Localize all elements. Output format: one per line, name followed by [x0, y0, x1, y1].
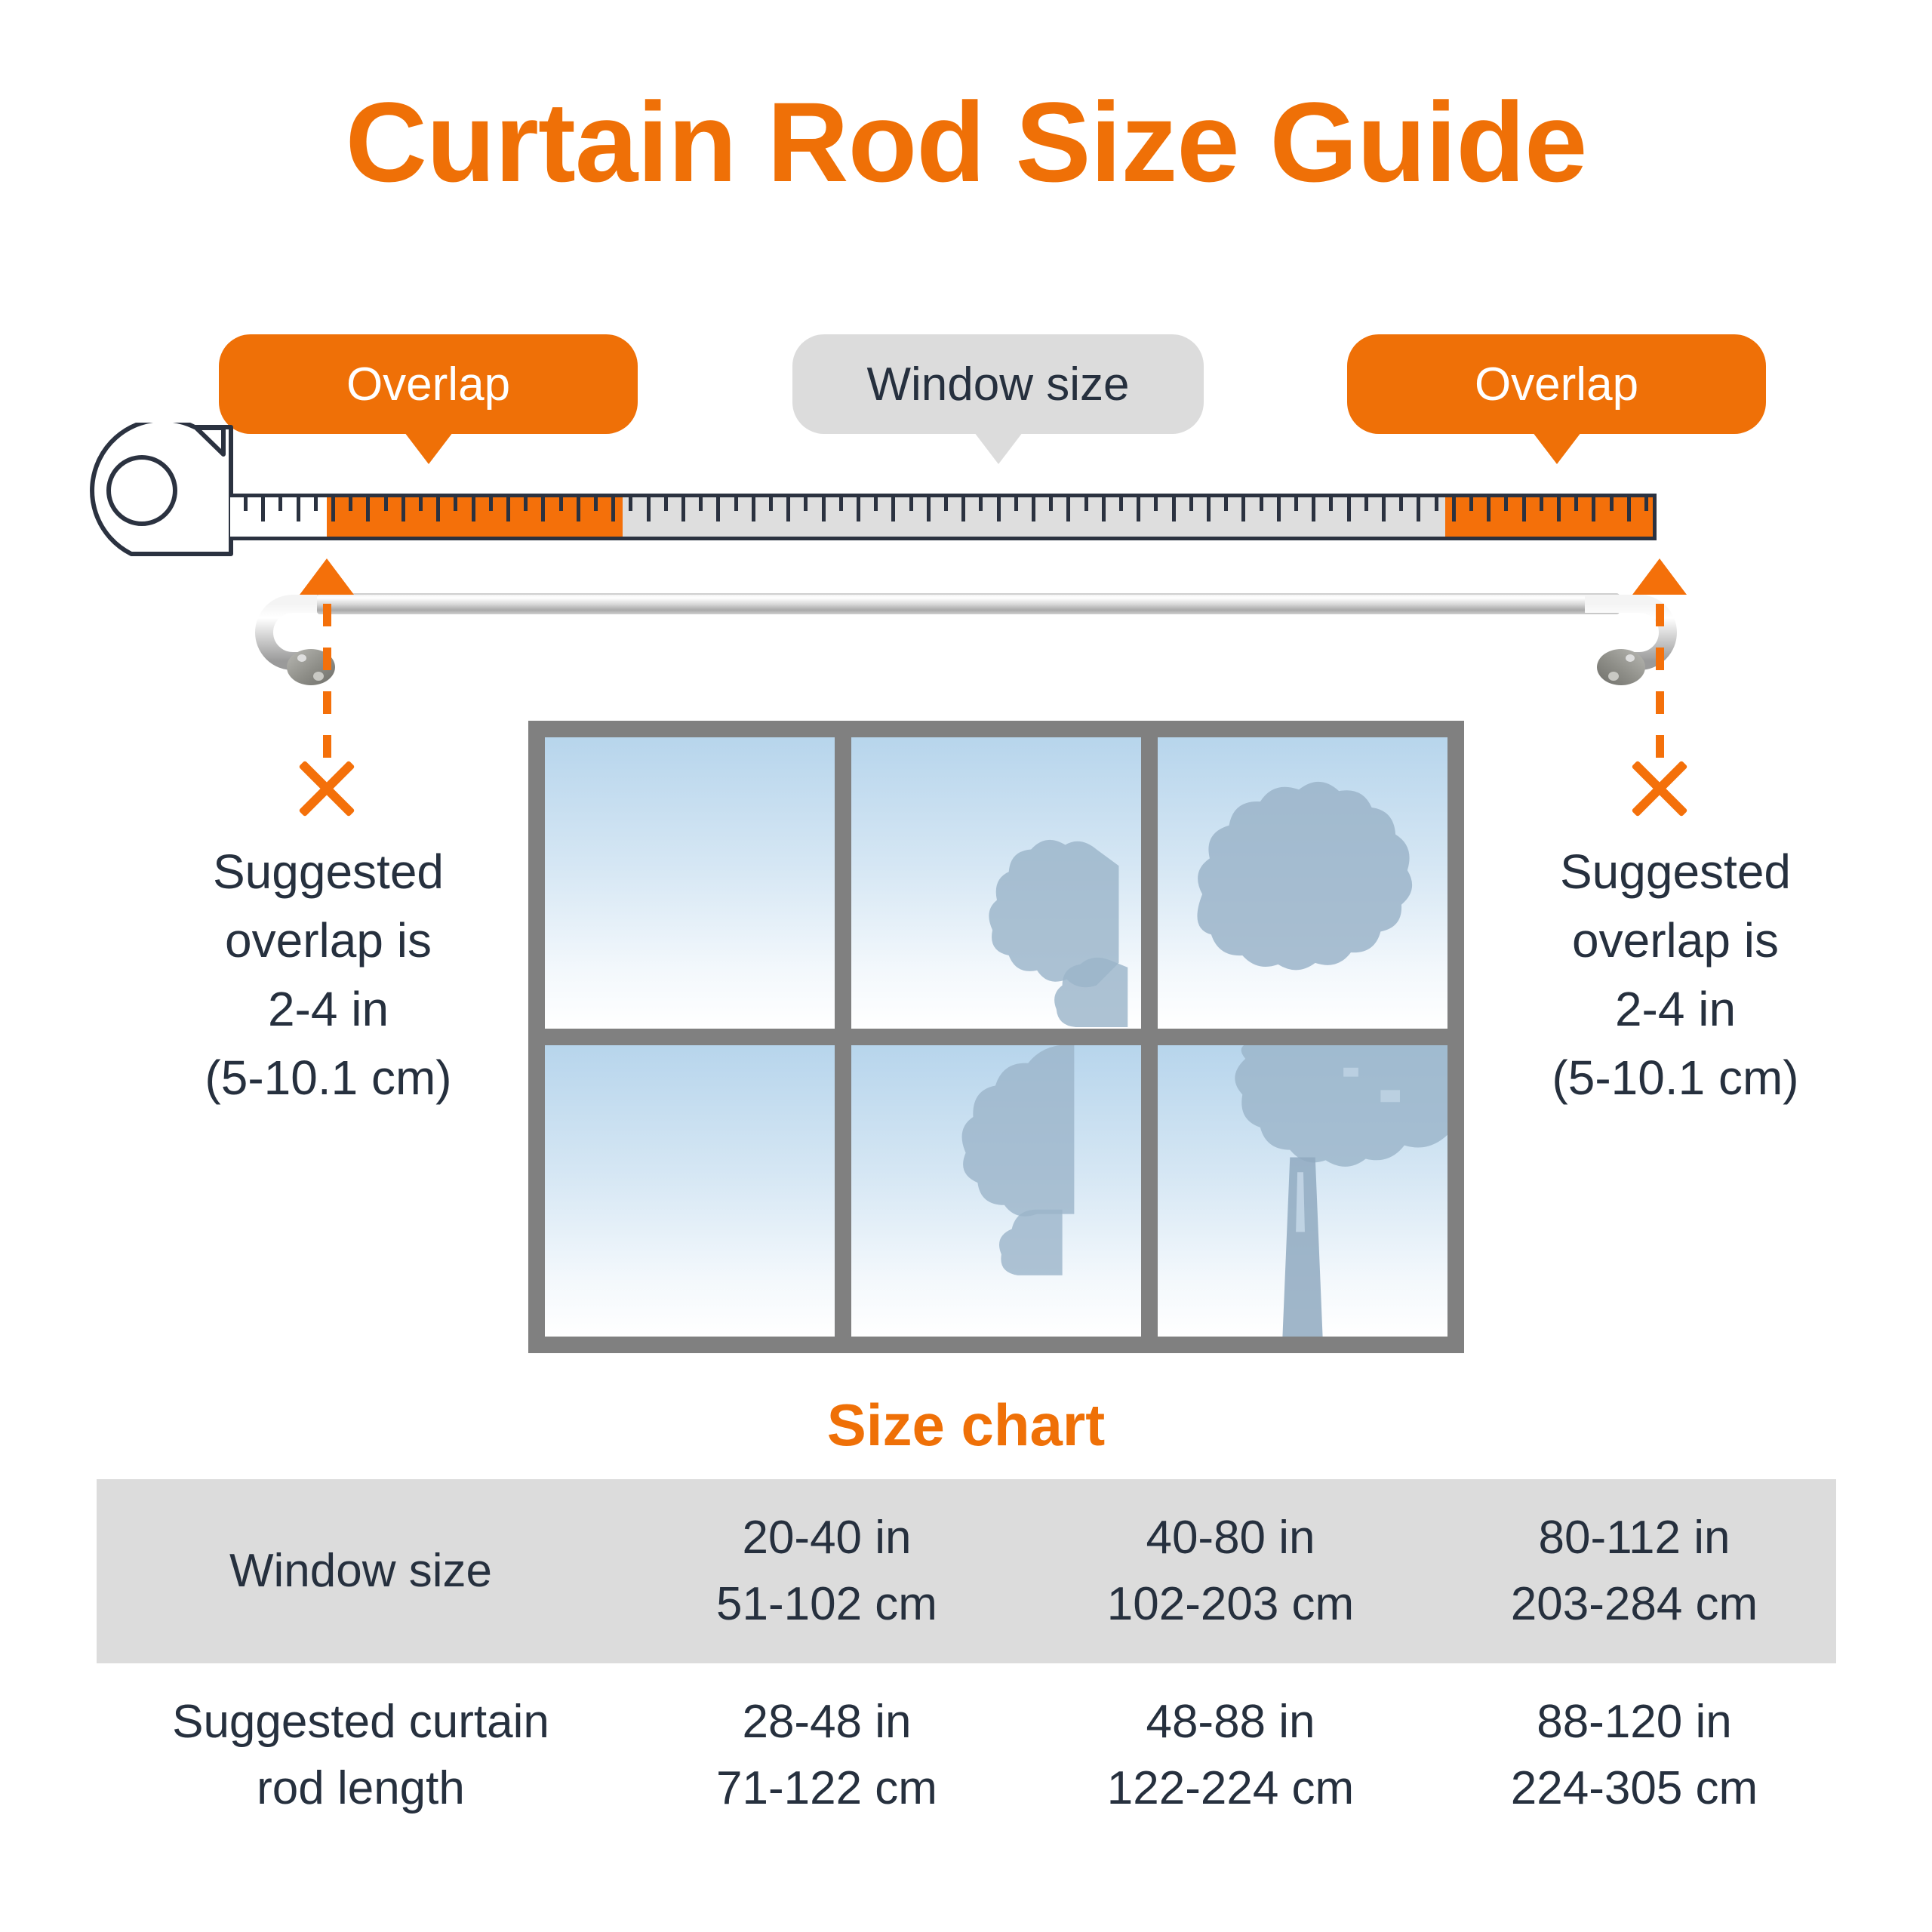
row-label: Suggested curtain rod length	[97, 1663, 625, 1847]
cell-cm: 51-102 cm	[632, 1571, 1021, 1638]
x-mark-right-icon	[1626, 755, 1694, 823]
table-cell: 40-80 in 102-203 cm	[1029, 1479, 1432, 1663]
table-row: Suggested curtain rod length 28-48 in 71…	[97, 1663, 1836, 1847]
table-cell: 20-40 in 51-102 cm	[625, 1479, 1029, 1663]
caption-overlap-right: Suggested overlap is 2-4 in (5-10.1 cm)	[1502, 838, 1849, 1112]
x-mark-left-icon	[293, 755, 361, 823]
caption-line: overlap is	[155, 906, 502, 975]
table-cell: 48-88 in 122-224 cm	[1029, 1663, 1432, 1847]
callout-overlap-right-label: Overlap	[1475, 358, 1638, 411]
window-pane	[1158, 1045, 1447, 1337]
window-illustration	[528, 721, 1464, 1353]
tree-silhouette-icon	[851, 737, 1141, 1029]
cell-cm: 224-305 cm	[1440, 1755, 1829, 1822]
guide-line-right	[1656, 604, 1664, 774]
caption-line: (5-10.1 cm)	[155, 1044, 502, 1112]
curtain-rod-illustration	[0, 574, 1932, 717]
size-chart-table: Window size 20-40 in 51-102 cm 40-80 in …	[97, 1479, 1836, 1847]
window-pane	[851, 1045, 1141, 1337]
rod-finial-right-icon	[1585, 589, 1683, 702]
table-cell: 80-112 in 203-284 cm	[1432, 1479, 1836, 1663]
window-pane	[545, 737, 835, 1029]
page-title: Curtain Rod Size Guide	[0, 83, 1932, 202]
row-label-line: Suggested curtain	[104, 1689, 617, 1755]
caption-line: (5-10.1 cm)	[1502, 1044, 1849, 1112]
tape-measure-illustration	[0, 423, 1932, 574]
callout-overlap-right: Overlap	[1347, 334, 1766, 434]
table-cell: 88-120 in 224-305 cm	[1432, 1663, 1836, 1847]
caption-line: Suggested	[1502, 838, 1849, 906]
row-label-line: rod length	[104, 1755, 617, 1822]
table-row: Window size 20-40 in 51-102 cm 40-80 in …	[97, 1479, 1836, 1663]
cell-inches: 28-48 in	[632, 1689, 1021, 1755]
tree-silhouette-icon	[851, 1045, 1141, 1337]
up-arrow-right-icon	[1632, 558, 1687, 595]
caption-line: 2-4 in	[1502, 975, 1849, 1044]
table-cell: 28-48 in 71-122 cm	[625, 1663, 1029, 1847]
cell-cm: 122-224 cm	[1036, 1755, 1425, 1822]
caption-line: Suggested	[155, 838, 502, 906]
up-arrow-left-icon	[300, 558, 354, 595]
size-chart-heading: Size chart	[0, 1391, 1932, 1460]
callout-overlap-left: Overlap	[219, 334, 638, 434]
caption-line: 2-4 in	[155, 975, 502, 1044]
callout-window-size: Window size	[792, 334, 1204, 434]
window-pane	[1158, 737, 1447, 1029]
cell-cm: 102-203 cm	[1036, 1571, 1425, 1638]
caption-overlap-left: Suggested overlap is 2-4 in (5-10.1 cm)	[155, 838, 502, 1112]
tape-measure-strip	[230, 494, 1657, 540]
cell-cm: 71-122 cm	[632, 1755, 1021, 1822]
tree-silhouette-icon	[1158, 1045, 1447, 1337]
curtain-rod-bar	[317, 593, 1620, 614]
cell-cm: 203-284 cm	[1440, 1571, 1829, 1638]
cell-inches: 48-88 in	[1036, 1689, 1425, 1755]
tape-segment-overlap-right	[1445, 497, 1653, 537]
window-pane	[851, 737, 1141, 1029]
callout-window-size-label: Window size	[867, 358, 1130, 411]
cell-inches: 80-112 in	[1440, 1505, 1829, 1571]
callout-overlap-left-label: Overlap	[346, 358, 510, 411]
window-pane	[545, 1045, 835, 1337]
cell-inches: 40-80 in	[1036, 1505, 1425, 1571]
row-label: Window size	[97, 1512, 625, 1630]
tree-silhouette-icon	[1158, 737, 1447, 1029]
caption-line: overlap is	[1502, 906, 1849, 975]
guide-line-left	[323, 604, 331, 774]
cell-inches: 20-40 in	[632, 1505, 1021, 1571]
cell-inches: 88-120 in	[1440, 1689, 1829, 1755]
infographic-canvas: Curtain Rod Size Guide Overlap Window si…	[0, 0, 1932, 1932]
